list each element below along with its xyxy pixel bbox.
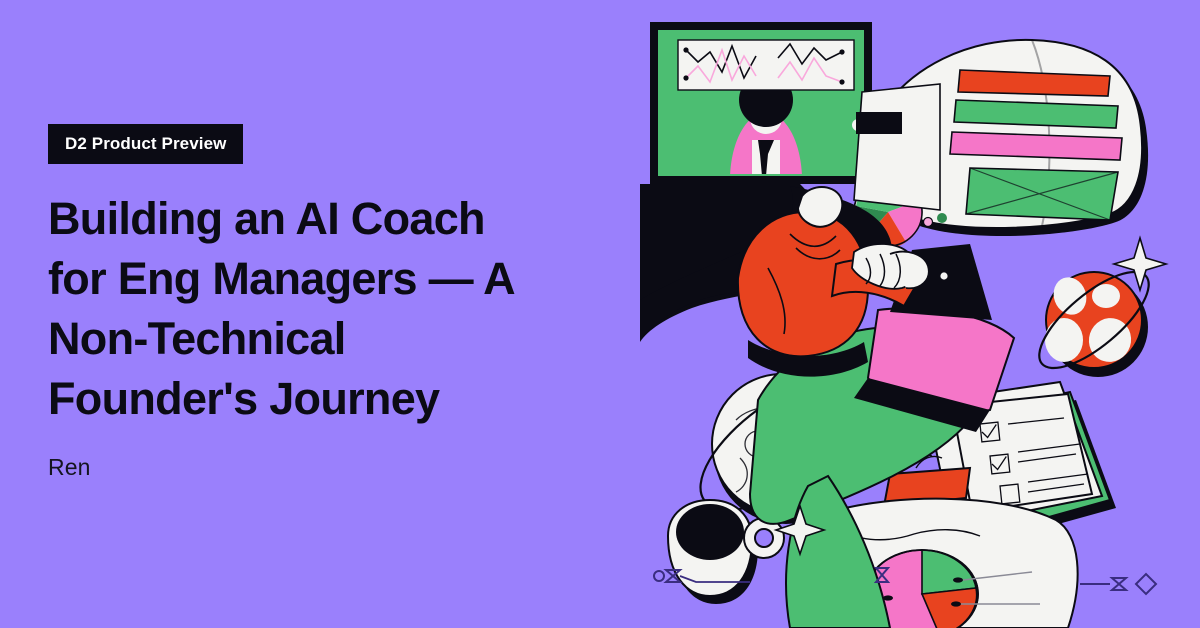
social-share-card: D2 Product Preview Building an AI Coach … [0, 0, 1200, 628]
report-area-chart [966, 168, 1118, 220]
illustration [640, 0, 1200, 628]
text-column: D2 Product Preview Building an AI Coach … [0, 0, 640, 628]
background-paper-sheet [854, 84, 940, 210]
video-call-screen [650, 22, 872, 184]
report-bar-rows [950, 70, 1122, 160]
category-badge: D2 Product Preview [48, 124, 243, 164]
page-title: Building an AI Coach for Eng Managers — … [48, 189, 548, 428]
illustration-svg [640, 0, 1200, 628]
glyph-marks-right [1080, 574, 1156, 594]
orange-planet [1025, 238, 1166, 384]
author-name: Ren [48, 454, 640, 481]
screen-stand [856, 112, 902, 134]
